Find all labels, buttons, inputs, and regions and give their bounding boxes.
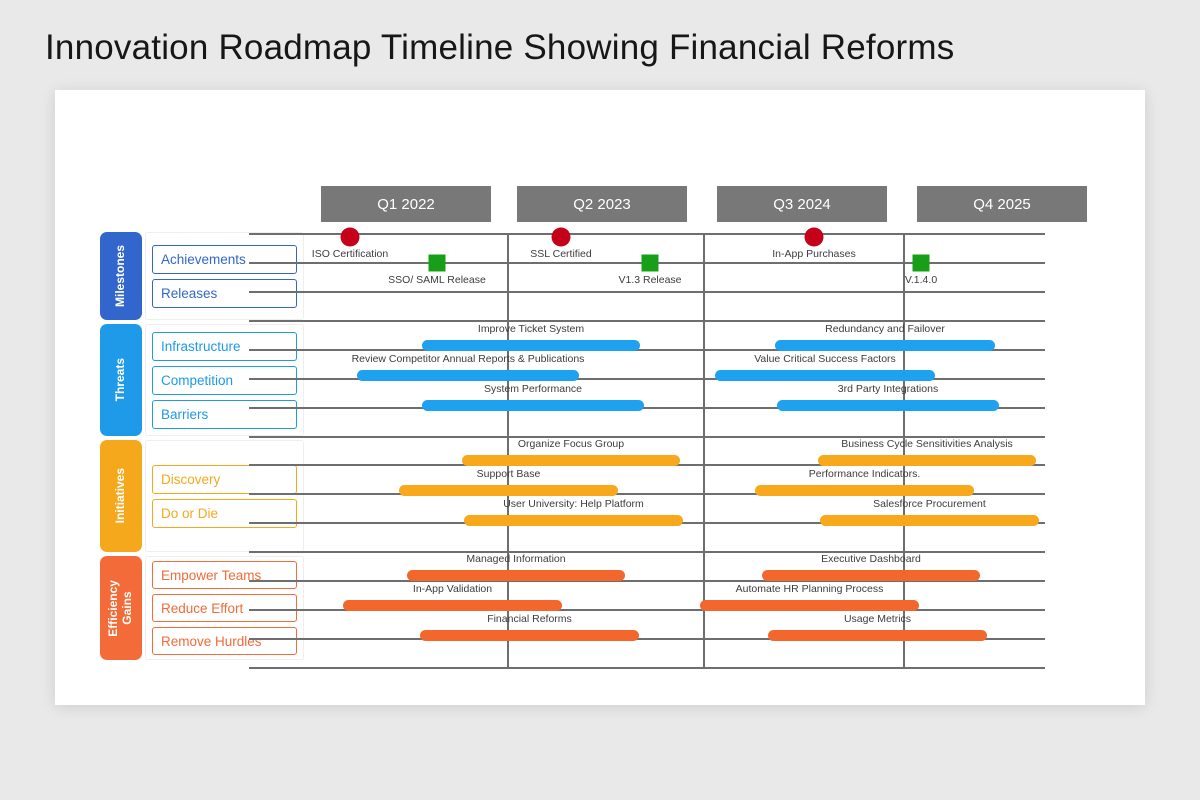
milestone-label: In-App Purchases	[772, 248, 855, 260]
timeline-bar-label: Salesforce Procurement	[873, 498, 986, 510]
category-tab-label: Threats	[114, 358, 128, 401]
timeline-bar-label: System Performance	[484, 383, 582, 395]
milestone-square-icon[interactable]	[913, 255, 930, 272]
timeline-bar-label: Executive Dashboard	[821, 553, 921, 565]
timeline-bar-label: Redundancy and Failover	[825, 323, 945, 335]
timeline-bar-label: Improve Ticket System	[478, 323, 584, 335]
timeline-bar[interactable]	[755, 485, 974, 496]
grid-hline	[249, 233, 1045, 235]
timeline-bar-label: Managed Information	[466, 553, 565, 565]
timeline-bar[interactable]	[820, 515, 1039, 526]
milestone-circle-icon[interactable]	[805, 228, 824, 247]
timeline-bar-label: Performance Indicators.	[809, 468, 920, 480]
timeline-bar[interactable]	[700, 600, 919, 611]
category-tab-milestones[interactable]: Milestones	[100, 232, 142, 320]
timeline-bar-label: Value Critical Success Factors	[754, 353, 896, 365]
milestone-label: V1.3 Release	[618, 274, 681, 286]
timeline-bar[interactable]	[407, 570, 625, 581]
timeline-bar[interactable]	[422, 400, 644, 411]
timeline-bar[interactable]	[768, 630, 987, 641]
timeline-bar-label: Support Base	[477, 468, 541, 480]
sub-item-reduce-effort[interactable]: Reduce Effort	[152, 594, 297, 622]
timeline-bar-label: Organize Focus Group	[518, 438, 624, 450]
milestone-label: V.1.4.0	[905, 274, 937, 286]
sub-item-remove-hurdles[interactable]: Remove Hurdles	[152, 627, 297, 655]
grid-hline	[249, 551, 1045, 553]
milestone-label: SSO/ SAML Release	[388, 274, 486, 286]
milestone-circle-icon[interactable]	[341, 228, 360, 247]
timeline-bar[interactable]	[420, 630, 639, 641]
milestone-square-icon[interactable]	[642, 255, 659, 272]
timeline-bar[interactable]	[762, 570, 980, 581]
timeline-bar-label: Usage Metrics	[844, 613, 911, 625]
milestone-square-icon[interactable]	[429, 255, 446, 272]
timeline-bar-label: User University: Help Platform	[503, 498, 644, 510]
category-tab-efficiency-gains[interactable]: Efficiency Gains	[100, 556, 142, 660]
timeline-bar-label: Financial Reforms	[487, 613, 572, 625]
milestone-circle-icon[interactable]	[552, 228, 571, 247]
timeline-bar[interactable]	[464, 515, 683, 526]
timeline-bar-label: In-App Validation	[413, 583, 492, 595]
timeline-bar[interactable]	[777, 400, 999, 411]
page-title: Innovation Roadmap Timeline Showing Fina…	[45, 28, 954, 68]
timeline-bar[interactable]	[818, 455, 1036, 466]
timeline-bar-label: Business Cycle Sensitivities Analysis	[841, 438, 1013, 450]
timeline-bar[interactable]	[422, 340, 640, 351]
category-tab-threats[interactable]: Threats	[100, 324, 142, 436]
grid-hline	[249, 667, 1045, 669]
timeline-bar[interactable]	[775, 340, 995, 351]
milestone-label: SSL Certified	[530, 248, 591, 260]
timeline-bar-label: Automate HR Planning Process	[736, 583, 884, 595]
timeline-bar-label: 3rd Party Integrations	[838, 383, 938, 395]
timeline-bar[interactable]	[715, 370, 935, 381]
grid-hline	[249, 291, 1045, 293]
timeline-bar[interactable]	[399, 485, 618, 496]
timeline-bar[interactable]	[357, 370, 579, 381]
timeline-bar[interactable]	[343, 600, 562, 611]
timeline-bar-label: Review Competitor Annual Reports & Publi…	[352, 353, 585, 365]
grid-hline	[249, 320, 1045, 322]
category-tab-label: Milestones	[114, 245, 128, 307]
category-tab-initiatives[interactable]: Initiatives	[100, 440, 142, 552]
category-tab-label: Efficiency Gains	[107, 580, 135, 637]
timeline-bar[interactable]	[462, 455, 680, 466]
milestone-label: ISO Certification	[312, 248, 388, 260]
category-tab-label: Initiatives	[114, 468, 128, 523]
